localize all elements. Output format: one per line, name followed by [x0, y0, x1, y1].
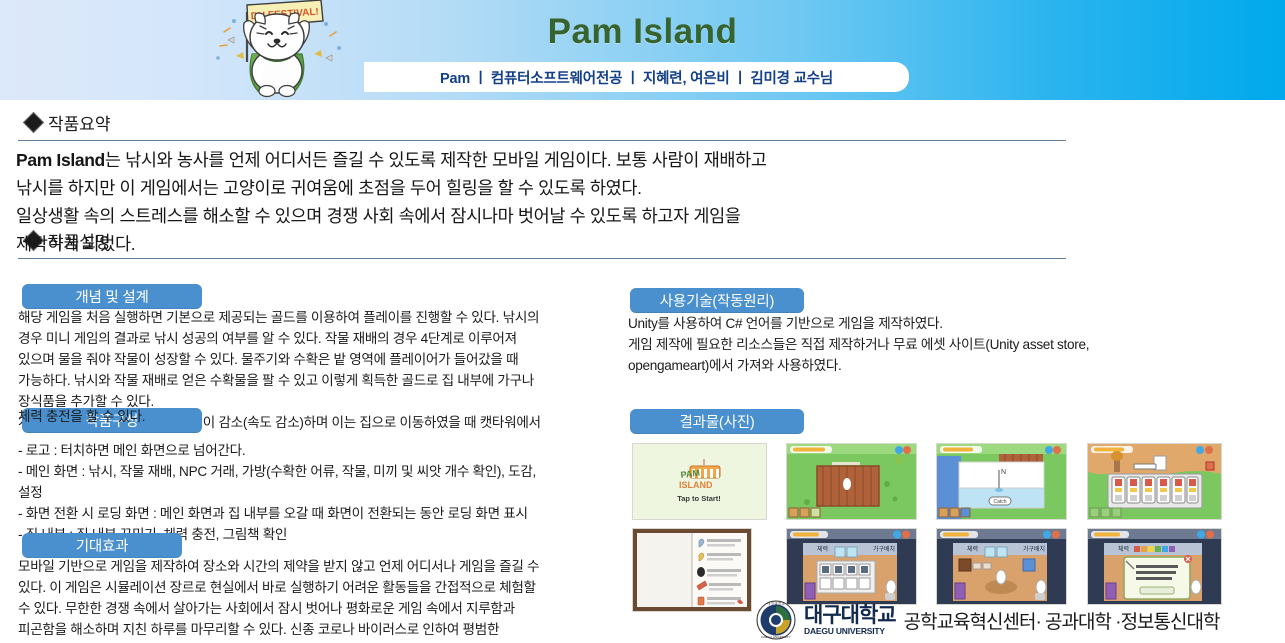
compose-line-4: - 화면 전환 시 로딩 화면 : 메인 화면과 집 내부를 오갈 때 화면이 … — [18, 503, 636, 524]
summary-line-1: Pam Island는 낚시와 농사를 언제 어디서든 즐길 수 있도록 제작한… — [16, 146, 1062, 174]
svg-text:체력: 체력 — [1118, 545, 1129, 553]
concept-line-1: 해당 게임을 처음 실행하면 기본으로 제공되는 골드를 이용하여 플레이를 진… — [18, 307, 636, 328]
poster-root: DU FESTIVAL! — [0, 0, 1285, 643]
paragraph-technology: Unity를 사용하여 C# 언어를 기반으로 게임을 제작하였다. 게임 제작… — [628, 313, 1158, 376]
summary-line-2: 낚시를 하지만 이 게임에서는 고양이로 귀여움에 초점을 두어 힐링을 할 수… — [16, 174, 1062, 202]
screenshot-farm-field — [786, 443, 917, 520]
screenshot-title-screen: PAM ISLAND Tap to Start! — [632, 443, 767, 520]
screenshot-fishing-minigame: N Catch — [936, 443, 1067, 520]
divider-line-2 — [18, 258, 1066, 259]
tech-line-2: 게임 제작에 필요한 리소스들은 직접 제작하거나 무료 에셋 사이트(Unit… — [628, 334, 1158, 355]
summary-heading-label: 작품요약 — [48, 110, 111, 135]
tech-line-3: opengameart)에서 가져와 사용하였다. — [628, 355, 1158, 376]
section-heading-summary: 작품요약 — [26, 110, 111, 135]
svg-text:체력: 체력 — [817, 545, 828, 553]
svg-text:체력: 체력 — [967, 545, 978, 553]
poster-header: DU FESTIVAL! — [0, 0, 1285, 100]
compose-line-2: - 메인 화면 : 낚시, 작물 재배, NPC 거래, 가방(수확한 어류, … — [18, 461, 636, 482]
university-name-en: DAEGU UNIVERSITY — [804, 626, 896, 636]
effect-line-3: 수 있다. 무한한 경쟁 속에서 살아가는 사회에서 잠시 벗어나 평화로운 게… — [18, 598, 636, 619]
summary-line-1-rest: 는 낚시와 농사를 언제 어디서든 즐길 수 있도록 제작한 모바일 게임이다.… — [105, 150, 767, 170]
effect-line-4: 피곤함을 해소하며 지친 하루를 마무리할 수 있다. 신종 코로나 바이러스로… — [18, 619, 636, 640]
screenshot-house-interior: 체력 가구배치 — [936, 528, 1067, 605]
page-title: Pam Island — [0, 12, 1285, 52]
badge-results-photos: 결과물(사진) — [630, 409, 804, 434]
summary-line-4-overlap: 제작하게 되었다. — [16, 230, 135, 258]
compose-line-1: - 로고 : 터치하면 메인 화면으로 넘어간다. — [18, 440, 636, 461]
university-name-ko: 대구대학교 — [804, 605, 896, 626]
screenshot-house-inventory: 체력 가구배치 — [786, 528, 917, 605]
daegu-university-logo-icon: 대 구 대 학 교 DAEGU UNIVERSITY — [756, 600, 796, 640]
svg-text:대 구 대 학 교: 대 구 대 학 교 — [767, 601, 784, 606]
footer-university: 대 구 대 학 교 DAEGU UNIVERSITY 대구대학교 DAEGU U… — [756, 600, 1285, 640]
svg-text:가구배치: 가구배치 — [873, 545, 895, 553]
badge-expected-effect: 기대효과 — [22, 533, 182, 558]
badge-concept-design: 개념 및 설계 — [22, 284, 202, 309]
subtitle-bar: Pam ㅣ 컴퓨터소프트웨어전공 ㅣ 지혜련, 여은비 ㅣ 김미경 교수님 — [364, 62, 909, 92]
svg-text:Tap to Start!: Tap to Start! — [677, 494, 721, 503]
paragraph-expected-effect: 모바일 기반으로 게임을 제작하여 장소와 시간의 제약을 받지 않고 언제 어… — [18, 556, 636, 643]
summary-text: Pam Island는 낚시와 농사를 언제 어디서든 즐길 수 있도록 제작한… — [16, 146, 1062, 230]
screenshot-dialog-popup: 체력 — [1087, 528, 1222, 605]
svg-text:Catch: Catch — [993, 499, 1006, 505]
screenshot-npc-shop — [1087, 443, 1222, 520]
svg-text:가구배치: 가구배치 — [1023, 545, 1045, 553]
svg-text:N: N — [1001, 469, 1006, 476]
effect-line-1: 모바일 기반으로 게임을 제작하여 장소와 시간의 제약을 받지 않고 언제 어… — [18, 556, 636, 577]
department-list: 공학교육혁신센터· 공과대학 ·정보통신대학 — [904, 607, 1220, 634]
badge-technology: 사용기술(작동원리) — [630, 288, 804, 313]
concept-line-2: 경우 미니 게임의 결과로 낚시 성공의 여부를 알 수 있다. 작물 재배의 … — [18, 328, 636, 349]
concept-overlap-line: 체력 충전을 할 수 있다. — [18, 406, 145, 427]
diamond-bullet-icon — [23, 112, 44, 133]
paragraph-composition: - 로고 : 터치하면 메인 화면으로 넘어간다. - 메인 화면 : 낚시, … — [18, 440, 636, 545]
svg-text:DAEGU UNIVERSITY: DAEGU UNIVERSITY — [761, 635, 791, 639]
concept-line-3: 있으며 물을 줘야 작물이 성장할 수 있다. 물주기와 수확은 밭 영역에 플… — [18, 349, 636, 370]
divider-line-1 — [18, 140, 1066, 141]
effect-line-2: 있다. 이 게임은 시뮬레이션 장르로 현실에서 바로 실행하기 어려운 활동들… — [18, 577, 636, 598]
university-name-block: 대구대학교 DAEGU UNIVERSITY — [804, 605, 896, 636]
subtitle-text: Pam ㅣ 컴퓨터소프트웨어전공 ㅣ 지혜련, 여은비 ㅣ 김미경 교수님 — [440, 67, 833, 88]
screenshot-picture-book — [632, 528, 752, 612]
compose-line-3: 설정 — [18, 482, 636, 503]
svg-text:ISLAND: ISLAND — [679, 480, 713, 490]
concept-line-4: 가능하다. 낚시와 작물 재배로 얻은 수확물을 팔 수 있고 이렇게 획득한 … — [18, 370, 636, 391]
summary-line-3: 일상생활 속의 스트레스를 해소할 수 있으며 경쟁 사회 속에서 잠시나마 벗… — [16, 202, 1062, 230]
summary-bold-lead: Pam Island — [16, 150, 105, 170]
tech-line-1: Unity를 사용하여 C# 언어를 기반으로 게임을 제작하였다. — [628, 313, 1158, 334]
